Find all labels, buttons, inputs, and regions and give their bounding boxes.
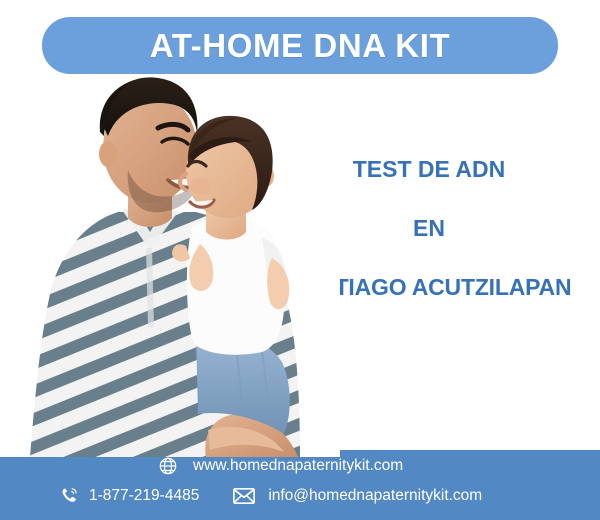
envelope-icon bbox=[233, 487, 255, 505]
footer-email-text[interactable]: info@homednapaternitykit.com bbox=[268, 488, 482, 504]
header-banner: AT-HOME DNA KIT bbox=[42, 17, 558, 74]
poster-root: AT-HOME DNA KIT bbox=[0, 0, 600, 520]
footer-phone-text[interactable]: 1-877-219-4485 bbox=[89, 488, 199, 504]
footer-contact-row: 1-877-219-4485 info@homednapaternitykit.… bbox=[60, 486, 482, 505]
globe-icon bbox=[158, 456, 178, 476]
phone-icon bbox=[60, 486, 79, 505]
header-title: AT-HOME DNA KIT bbox=[150, 29, 450, 62]
footer-website-row: www.homednapaternitykit.com bbox=[158, 456, 403, 476]
family-photo bbox=[0, 62, 340, 457]
footer-website-text[interactable]: www.homednapaternitykit.com bbox=[193, 458, 403, 474]
family-photo-illustration bbox=[0, 62, 340, 457]
